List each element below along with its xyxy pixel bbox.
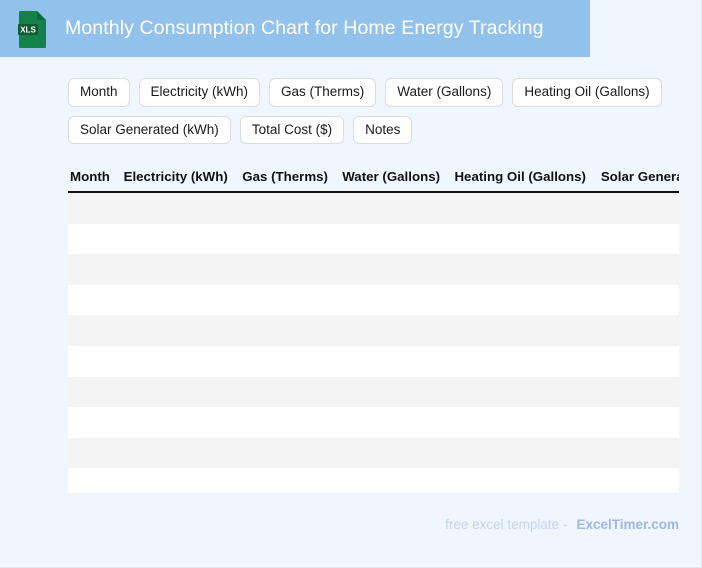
table-cell[interactable]	[68, 468, 124, 493]
footer-label: free excel template -	[445, 518, 567, 532]
table-cell[interactable]	[601, 224, 679, 255]
table-row[interactable]	[68, 438, 679, 469]
table-row[interactable]	[68, 346, 679, 377]
table-cell[interactable]	[342, 254, 454, 285]
table-cell[interactable]	[124, 192, 243, 224]
table-cell[interactable]	[242, 285, 342, 316]
table-cell[interactable]	[124, 285, 243, 316]
table-cell[interactable]	[454, 192, 600, 224]
table-cell[interactable]	[342, 285, 454, 316]
table-cell[interactable]	[242, 407, 342, 438]
table-cell[interactable]	[454, 407, 600, 438]
table-cell[interactable]	[242, 315, 342, 346]
table-cell[interactable]	[601, 192, 679, 224]
table-cell[interactable]	[342, 468, 454, 493]
data-table: Month Electricity (kWh) Gas (Therms) Wat…	[68, 165, 679, 493]
table-cell[interactable]	[242, 254, 342, 285]
table-cell[interactable]	[601, 468, 679, 493]
table-cell[interactable]	[342, 346, 454, 377]
table-row[interactable]	[68, 254, 679, 285]
table-cell[interactable]	[601, 407, 679, 438]
table-cell[interactable]	[601, 377, 679, 408]
table-cell[interactable]	[242, 468, 342, 493]
table-row[interactable]	[68, 192, 679, 224]
table-cell[interactable]	[124, 377, 243, 408]
table-cell[interactable]	[242, 438, 342, 469]
table-row[interactable]	[68, 468, 679, 493]
data-table-container: Month Electricity (kWh) Gas (Therms) Wat…	[68, 165, 679, 493]
table-header-solar-generated[interactable]: Solar Generated (kWh)	[601, 165, 679, 192]
table-cell[interactable]	[124, 224, 243, 255]
table-cell[interactable]	[454, 377, 600, 408]
page-title: Monthly Consumption Chart for Home Energ…	[65, 19, 544, 39]
table-row[interactable]	[68, 285, 679, 316]
table-cell[interactable]	[601, 254, 679, 285]
column-chip-gas[interactable]: Gas (Therms)	[269, 78, 376, 107]
table-cell[interactable]	[242, 377, 342, 408]
table-cell[interactable]	[454, 346, 600, 377]
table-cell[interactable]	[124, 468, 243, 493]
column-chip-month[interactable]: Month	[68, 78, 130, 107]
header-banner: XLS Monthly Consumption Chart for Home E…	[0, 0, 590, 57]
footer-credit: free excel template - ExcelTimer.com	[445, 518, 679, 532]
xls-file-icon: XLS	[18, 10, 48, 48]
table-cell[interactable]	[68, 254, 124, 285]
table-header-row: Month Electricity (kWh) Gas (Therms) Wat…	[68, 165, 679, 192]
table-cell[interactable]	[454, 224, 600, 255]
table-cell[interactable]	[601, 315, 679, 346]
table-cell[interactable]	[68, 407, 124, 438]
table-cell[interactable]	[242, 192, 342, 224]
table-cell[interactable]	[342, 315, 454, 346]
table-cell[interactable]	[342, 192, 454, 224]
table-cell[interactable]	[342, 407, 454, 438]
table-header: Month Electricity (kWh) Gas (Therms) Wat…	[68, 165, 679, 192]
column-chip-notes[interactable]: Notes	[353, 116, 412, 145]
table-row[interactable]	[68, 407, 679, 438]
table-cell[interactable]	[68, 285, 124, 316]
table-cell[interactable]	[454, 438, 600, 469]
column-chip-electricity[interactable]: Electricity (kWh)	[139, 78, 261, 107]
table-cell[interactable]	[68, 192, 124, 224]
table-header-month[interactable]: Month	[68, 165, 124, 192]
table-header-gas[interactable]: Gas (Therms)	[242, 165, 342, 192]
table-cell[interactable]	[124, 407, 243, 438]
table-cell[interactable]	[68, 315, 124, 346]
table-cell[interactable]	[242, 224, 342, 255]
svg-text:XLS: XLS	[20, 25, 36, 34]
table-row[interactable]	[68, 224, 679, 255]
column-chip-total-cost[interactable]: Total Cost ($)	[240, 116, 344, 145]
table-row[interactable]	[68, 315, 679, 346]
table-row[interactable]	[68, 377, 679, 408]
table-cell[interactable]	[124, 438, 243, 469]
table-cell[interactable]	[124, 254, 243, 285]
table-cell[interactable]	[68, 438, 124, 469]
column-chip-water[interactable]: Water (Gallons)	[385, 78, 503, 107]
table-cell[interactable]	[68, 224, 124, 255]
table-header-water[interactable]: Water (Gallons)	[342, 165, 454, 192]
table-cell[interactable]	[601, 346, 679, 377]
table-cell[interactable]	[68, 346, 124, 377]
page-root: XLS Monthly Consumption Chart for Home E…	[0, 0, 702, 568]
table-header-electricity[interactable]: Electricity (kWh)	[124, 165, 243, 192]
table-cell[interactable]	[454, 285, 600, 316]
table-cell[interactable]	[454, 254, 600, 285]
table-cell[interactable]	[124, 346, 243, 377]
table-cell[interactable]	[601, 438, 679, 469]
table-cell[interactable]	[342, 438, 454, 469]
column-chip-heating-oil[interactable]: Heating Oil (Gallons)	[512, 78, 661, 107]
table-cell[interactable]	[342, 224, 454, 255]
table-cell[interactable]	[454, 468, 600, 493]
column-chip-list: Month Electricity (kWh) Gas (Therms) Wat…	[68, 78, 678, 144]
footer-brand-link[interactable]: ExcelTimer.com	[576, 518, 679, 532]
table-header-heating-oil[interactable]: Heating Oil (Gallons)	[454, 165, 600, 192]
column-chip-solar-generated[interactable]: Solar Generated (kWh)	[68, 116, 231, 145]
table-cell[interactable]	[601, 285, 679, 316]
table-cell[interactable]	[342, 377, 454, 408]
table-cell[interactable]	[242, 346, 342, 377]
table-cell[interactable]	[68, 377, 124, 408]
table-cell[interactable]	[454, 315, 600, 346]
table-body	[68, 192, 679, 493]
table-cell[interactable]	[124, 315, 243, 346]
